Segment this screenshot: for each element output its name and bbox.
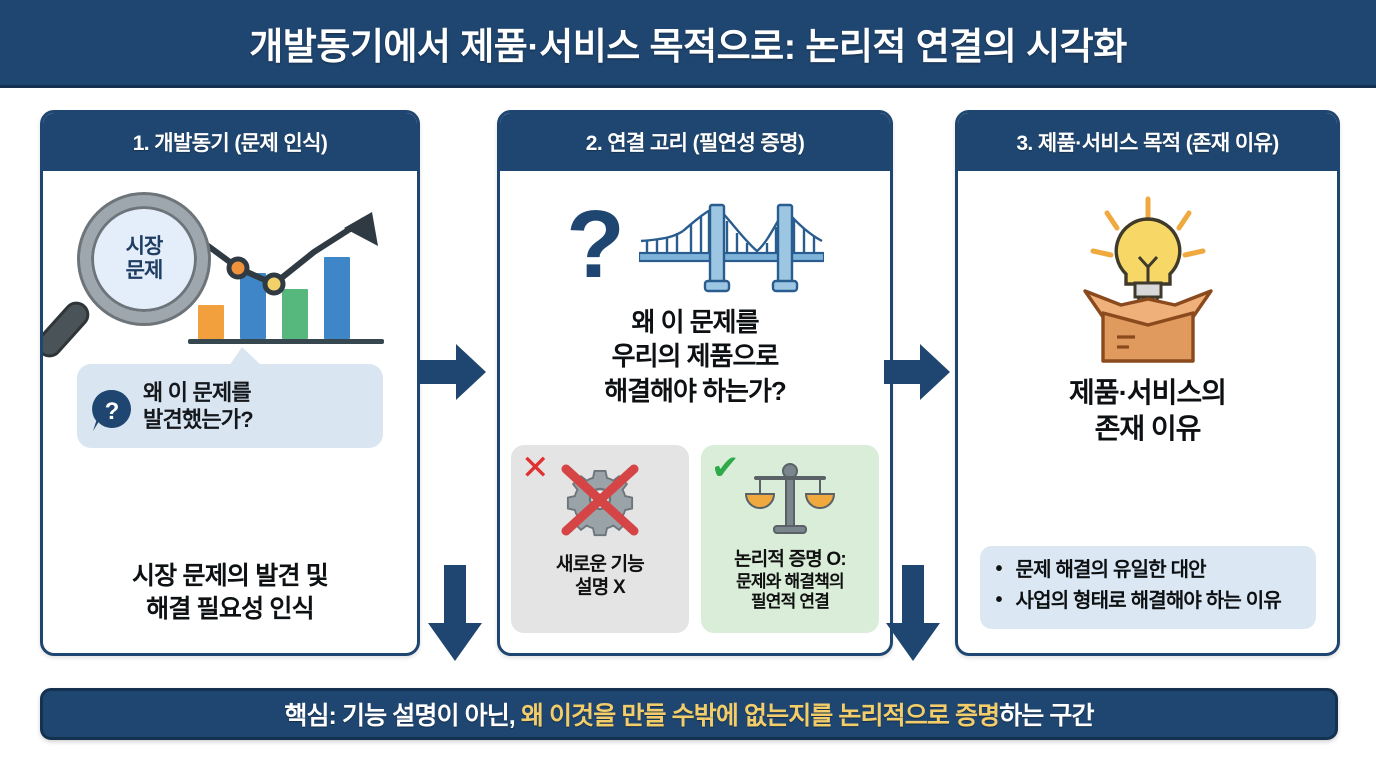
panel3-title-line-2: 존재 이유 bbox=[1069, 411, 1226, 447]
panel3-title-text: 제품·서비스의 존재 이유 bbox=[1069, 375, 1226, 448]
panel3-bullet-list: 문제 해결의 유일한 대안 사업의 형태로 해결해야 하는 이유 bbox=[980, 546, 1316, 629]
question-bubble-text: 왜 이 문제를 발견했는가? bbox=[143, 379, 253, 434]
question-bubble-wrap: ? 왜 이 문제를 발견했는가? bbox=[77, 364, 383, 448]
suspension-bridge-icon bbox=[639, 195, 824, 295]
card-feature-explanation-bad: ✕ bbox=[511, 445, 689, 633]
page-title-bar: 개발동기에서 제품·서비스 목적으로: 논리적 연결의 시각화 bbox=[0, 0, 1376, 88]
panel3-body: 제품·서비스의 존재 이유 문제 해결의 유일한 대안 사업의 형태로 해결해야… bbox=[958, 171, 1337, 653]
card-bad-caption-line-2: 설명 X bbox=[556, 576, 644, 599]
balance-scale-icon bbox=[742, 455, 838, 547]
idea-box-illustration bbox=[1043, 195, 1253, 367]
lightbulb-in-open-box-icon bbox=[1043, 195, 1253, 367]
bridge-illustration: ? bbox=[566, 193, 824, 297]
panel2-question-line-3: 해결해야 하는가? bbox=[604, 374, 786, 408]
panel3-title-line-1: 제품·서비스의 bbox=[1069, 375, 1226, 411]
page-title: 개발동기에서 제품·서비스 목적으로: 논리적 연결의 시각화 bbox=[249, 16, 1127, 70]
card-good-caption-line-1: 논리적 증명 O: bbox=[734, 549, 846, 572]
panel-connection-link: 2. 연결 고리 (필연성 증명) ? bbox=[497, 110, 893, 656]
chart-bar-1 bbox=[198, 305, 224, 339]
card-good-caption: 논리적 증명 O: 문제와 해결책의 필연적 연결 bbox=[734, 549, 846, 613]
panel2-header: 2. 연결 고리 (필연성 증명) bbox=[500, 113, 890, 171]
panel1-footer-line-1: 시장 문제의 발견 및 bbox=[132, 560, 328, 593]
panel-product-purpose: 3. 제품·서비스 목적 (존재 이유) bbox=[955, 110, 1340, 656]
list-item: 문제 해결의 유일한 대안 bbox=[996, 558, 1302, 584]
panel2-question-line-1: 왜 이 문제를 bbox=[604, 305, 786, 339]
panel1-header: 1. 개발동기 (문제 인식) bbox=[43, 113, 417, 171]
list-item: 사업의 형태로 해결해야 하는 이유 bbox=[996, 589, 1302, 615]
panel2-question-line-2: 우리의 제품으로 bbox=[604, 339, 786, 373]
market-problem-illustration: 시장 문제 bbox=[70, 193, 390, 358]
panel2-question-text: 왜 이 문제를 우리의 제품으로 해결해야 하는가? bbox=[604, 305, 786, 408]
panel2-body: ? bbox=[500, 171, 890, 653]
svg-text:?: ? bbox=[105, 398, 120, 425]
magnifier-label-line1: 시장 bbox=[126, 235, 163, 259]
question-speech-bubble: ? 왜 이 문제를 발견했는가? bbox=[77, 364, 383, 448]
bubble-line-1: 왜 이 문제를 bbox=[143, 379, 253, 406]
magnifier-label-line2: 문제 bbox=[126, 259, 163, 283]
card-bad-caption: 새로운 기능 설명 X bbox=[556, 553, 644, 599]
arrow-right-icon-1 bbox=[420, 340, 486, 404]
card-logical-proof-good: ✔ 논리적 증명 bbox=[701, 445, 879, 633]
red-x-mark-icon: ✕ bbox=[521, 451, 550, 485]
magnifier-handle-icon bbox=[40, 296, 95, 362]
key-summary-banner: 핵심: 기능 설명이 아닌, 왜 이것을 만들 수밖에 없는지를 논리적으로 증… bbox=[40, 688, 1338, 740]
panel3-header: 3. 제품·서비스 목적 (존재 이유) bbox=[958, 113, 1337, 171]
crossed-out-gear-icon bbox=[554, 455, 646, 547]
arrow-down-icon-2 bbox=[886, 565, 940, 661]
banner-text-highlight: 왜 이것을 만들 수밖에 없는지를 논리적으로 증명 bbox=[521, 702, 999, 730]
question-mark-icon: ? bbox=[566, 204, 625, 287]
arrow-right-icon-2 bbox=[884, 340, 950, 404]
panel1-body: 시장 문제 ? 왜 이 문제를 발견했는가? 시장 문제의 발견 bbox=[43, 171, 417, 653]
banner-text-part-2: 하는 구간 bbox=[999, 702, 1093, 730]
panel1-footer-line-2: 해결 필요성 인식 bbox=[132, 593, 328, 626]
arrow-down-icon-1 bbox=[428, 565, 482, 661]
card-good-caption-line-3: 필연적 연결 bbox=[734, 592, 846, 612]
bubble-line-2: 발견했는가? bbox=[143, 406, 253, 433]
banner-text: 핵심: 기능 설명이 아닌, 왜 이것을 만들 수밖에 없는지를 논리적으로 증… bbox=[284, 696, 1093, 732]
infographic-canvas: 개발동기에서 제품·서비스 목적으로: 논리적 연결의 시각화 1. 개발동기 … bbox=[0, 0, 1376, 768]
trend-arrow-icon bbox=[182, 206, 392, 302]
question-chat-icon: ? bbox=[89, 388, 135, 434]
card-bad-caption-line-1: 새로운 기능 bbox=[556, 553, 644, 576]
card-good-caption-line-2: 문제와 해결책의 bbox=[734, 572, 846, 592]
magnifier-lens-icon: 시장 문제 bbox=[80, 195, 208, 323]
comparison-cards: ✕ bbox=[510, 445, 880, 633]
panel1-footer-text: 시장 문제의 발견 및 해결 필요성 인식 bbox=[132, 560, 328, 625]
green-check-mark-icon: ✔ bbox=[711, 451, 740, 485]
chart-axis-line bbox=[188, 339, 384, 344]
banner-text-part-1: 핵심: 기능 설명이 아닌, bbox=[284, 702, 521, 730]
panel-development-motive: 1. 개발동기 (문제 인식) 시장 bbox=[40, 110, 420, 656]
